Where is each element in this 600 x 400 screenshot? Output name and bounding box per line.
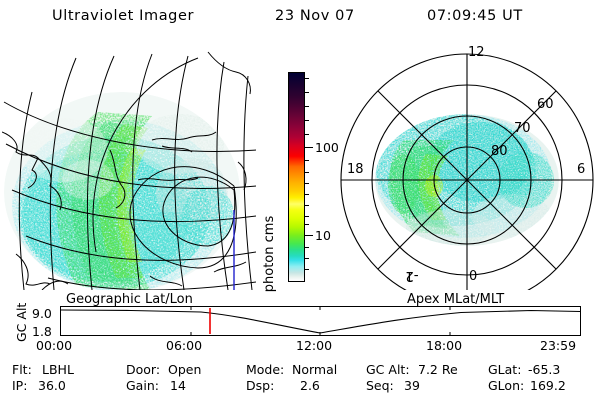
status-glat-value: -65.3 [528, 362, 560, 377]
instrument-title: Ultraviolet Imager [52, 8, 194, 24]
status-glon-value: 169.2 [530, 378, 566, 393]
orbit-altitude-strip: Geographic Lat/Lon Apex MLat/MLT GC Alt … [0, 292, 600, 354]
observation-date: 23 Nov 07 [275, 8, 355, 24]
time-tick-1200: 12:00 [296, 338, 332, 353]
time-tick-0000: 00:00 [36, 338, 72, 353]
status-row-1: Flt: LBHL Door: Open Mode: Normal GC Alt… [0, 362, 600, 379]
mlt-label-18: 18 [347, 162, 364, 177]
mlat-ring-label-70: 70 [514, 121, 531, 136]
header: Ultraviolet Imager 23 Nov 07 07:09:45 UT [0, 8, 600, 32]
altitude-plot-box[interactable] [60, 306, 581, 336]
status-glat-label: GLat: [488, 362, 521, 377]
status-dsp-label: Dsp: [246, 378, 274, 393]
status-dsp-value: 2.6 [300, 378, 320, 393]
status-gcalt-value: 7.2 Re [418, 362, 458, 377]
status-ip-value: 36.0 [38, 378, 66, 393]
right-panel-title: Apex MLat/MLT [407, 292, 504, 307]
altitude-axis-label: GC Alt [14, 296, 30, 342]
mlt-label-12: 12 [468, 45, 485, 60]
mlt-label-6: 6 [577, 162, 585, 177]
aurora-emission-map [2, 52, 256, 290]
colorbar-ticks [304, 72, 314, 280]
status-seq-label: Seq: [366, 378, 394, 393]
status-flt-label: Flt: [12, 362, 32, 377]
status-gain-label: Gain: [126, 378, 159, 393]
altitude-tick-high: 9.0 [32, 306, 52, 321]
status-row-2: IP: 36.0 Gain: 14 Dsp: 2.6 Seq: 39 GLon:… [0, 378, 600, 395]
mlt-label-0: 0 [469, 269, 477, 284]
status-door-label: Door: [126, 362, 160, 377]
status-door-value: Open [168, 362, 201, 377]
mlat-ring-label-80: 80 [491, 144, 508, 159]
colorbar-axis-title: photon cm-2s-1 [253, 104, 271, 254]
status-mode-value: Normal [292, 362, 337, 377]
time-tick-2359: 23:59 [540, 338, 576, 353]
time-tick-1800: 18:00 [426, 338, 462, 353]
colorbar-label-10: 10 [315, 228, 331, 243]
colorbar-title-s: s [262, 216, 277, 223]
colorbar-gradient [289, 73, 304, 281]
status-glon-label: GLon: [488, 378, 524, 393]
status-gain-value: 14 [170, 378, 186, 393]
time-tick-0600: 06:00 [166, 338, 202, 353]
mlat-ring-label-60: 60 [537, 97, 554, 112]
colorbar-title-photon: photon cm [262, 223, 277, 293]
status-gcalt-label: GC Alt: [366, 362, 410, 377]
left-panel-title: Geographic Lat/Lon [66, 292, 193, 307]
altitude-tick-low: 1.8 [32, 324, 52, 339]
polar-mlat-mlt-panel[interactable]: 12 18 6 0 60 70 80 [330, 40, 598, 290]
status-seq-value: 39 [404, 378, 420, 393]
status-ip-label: IP: [12, 378, 27, 393]
status-flt-value: LBHL [42, 362, 74, 377]
altitude-curve [61, 310, 580, 333]
status-bar: Flt: LBHL Door: Open Mode: Normal GC Alt… [0, 362, 600, 398]
geographic-image-panel[interactable] [2, 40, 256, 290]
status-mode-label: Mode: [246, 362, 284, 377]
axis-inner-ticks [191, 307, 450, 335]
colorbar[interactable] [288, 72, 305, 282]
observation-time: 07:09:45 UT [427, 8, 523, 24]
ultraviolet-imager-display: Ultraviolet Imager 23 Nov 07 07:09:45 UT [0, 0, 600, 400]
